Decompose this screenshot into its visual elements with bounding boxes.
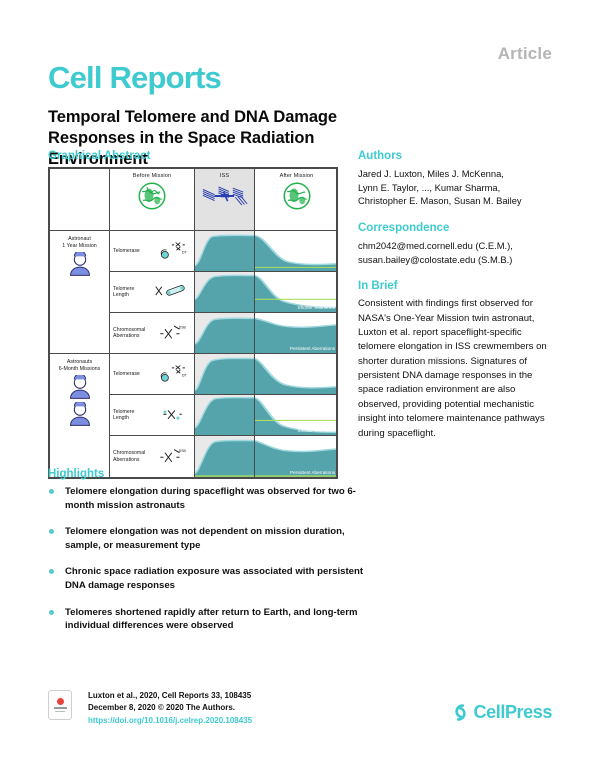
measure-label-text: Chromosomal Aberrations xyxy=(113,450,143,462)
badge-dot xyxy=(57,698,64,705)
annotation-shorter-telomeres: Shorter Telomeres xyxy=(298,305,335,310)
graphical-abstract-heading: Graphical Abstract xyxy=(48,150,338,162)
astronaut-icon xyxy=(67,252,93,276)
author-line: Lynn E. Taylor, ..., Kumar Sharma, xyxy=(358,181,554,195)
authors-block: Authors Jared J. Luxton, Miles J. McKenn… xyxy=(358,150,554,208)
plot-telomerase-6m-iss xyxy=(195,354,255,395)
page-root: Article Cell Reports Temporal Telomere a… xyxy=(0,0,600,779)
publisher-name: CellPress xyxy=(474,702,552,723)
bullet-icon xyxy=(49,529,54,534)
journal-brand-title: Cell Reports xyxy=(48,62,552,93)
citation-block: Luxton et al., 2020, Cell Reports 33, 10… xyxy=(88,690,252,727)
measure-label-text: Chromosomal Aberrations xyxy=(113,327,143,339)
bullet-icon xyxy=(49,489,54,494)
badge-bar xyxy=(54,707,67,709)
astronaut-icon xyxy=(67,375,93,399)
measure-label-text: Telomerase xyxy=(113,248,143,254)
graphical-abstract-section: Graphical Abstract Before Mission ISS xyxy=(48,150,338,479)
highlight-text: Telomeres shortened rapidly after return… xyxy=(65,607,357,632)
figure-corner-cell xyxy=(50,169,110,231)
measure-label-text: Telomere Length xyxy=(113,409,143,421)
badge-bar xyxy=(55,711,65,713)
column-header-label: After Mission xyxy=(280,173,314,179)
doi-link[interactable]: https://doi.org/10.1016/j.celrep.2020.10… xyxy=(88,715,252,727)
annotation-persistent-aberrations: Persistent Aberrations xyxy=(290,346,335,351)
measure-label-cell: Telomerase DT xyxy=(110,231,195,272)
in-brief-text: Consistent with findings first observed … xyxy=(358,297,554,441)
plot-telomere-length-1y-iss xyxy=(195,272,255,313)
highlight-text: Telomere elongation during spaceflight w… xyxy=(65,486,356,511)
highlight-text: Chronic space radiation exposure was ass… xyxy=(65,566,363,591)
list-item: Telomeres shortened rapidly after return… xyxy=(48,606,368,633)
plot-telomere-length-1y-after: Shorter Telomeres xyxy=(255,272,338,313)
row-group-text: Astronauts6-Month Missions xyxy=(59,359,101,372)
chromosome-telomere-icon xyxy=(145,397,191,433)
right-column: Authors Jared J. Luxton, Miles J. McKenn… xyxy=(358,150,554,455)
crossmark-badge-icon xyxy=(48,690,72,720)
authors-list: Jared J. Luxton, Miles J. McKenna, Lynn … xyxy=(358,167,554,208)
measure-label-cell: Telomerase DT xyxy=(110,354,195,395)
correspondence-heading: Correspondence xyxy=(358,222,554,234)
list-item: Telomere elongation during spaceflight w… xyxy=(48,485,368,512)
telomerase-icon: DT xyxy=(145,233,191,269)
correspondence-email[interactable]: susan.bailey@colostate.edu (S.M.B.) xyxy=(358,253,554,267)
bullet-icon xyxy=(49,610,54,615)
in-brief-block: In Brief Consistent with findings first … xyxy=(358,280,554,441)
highlights-section: Highlights Telomere elongation during sp… xyxy=(48,468,368,646)
svg-text:DT: DT xyxy=(182,373,188,377)
column-header-label: Before Mission xyxy=(133,173,171,179)
plot-telomere-length-6m-iss xyxy=(195,395,255,436)
figure-column-header-after: After Mission xyxy=(255,169,338,231)
earth-icon xyxy=(282,181,312,211)
in-brief-heading: In Brief xyxy=(358,280,554,292)
author-line: Christopher E. Mason, Susan M. Bailey xyxy=(358,194,554,208)
highlights-list: Telomere elongation during spaceflight w… xyxy=(48,485,368,633)
svg-text:DSB: DSB xyxy=(179,325,187,329)
chromosome-aberration-icon: DSB xyxy=(145,315,191,351)
graphical-abstract-figure: Before Mission ISS xyxy=(48,167,338,479)
annotation-shorter-telomeres: Shorter Telomeres xyxy=(298,428,335,433)
bullet-icon xyxy=(49,569,54,574)
plot-telomerase-1y-iss xyxy=(195,231,255,272)
measure-label-cell: Chromosomal Aberrations DSB xyxy=(110,313,195,354)
measure-label-cell: Telomere Length xyxy=(110,272,195,313)
figure-column-header-before: Before Mission xyxy=(110,169,195,231)
correspondence-block: Correspondence chm2042@med.cornell.edu (… xyxy=(358,222,554,266)
plot-aberrations-1y-iss xyxy=(195,313,255,354)
authors-heading: Authors xyxy=(358,150,554,162)
list-item: Telomere elongation was not dependent on… xyxy=(48,525,368,552)
telomerase-icon: DT xyxy=(145,356,191,392)
citation-line: December 8, 2020 © 2020 The Authors. xyxy=(88,702,252,714)
plot-telomerase-1y-after xyxy=(255,231,338,272)
highlight-text: Telomere elongation was not dependent on… xyxy=(65,526,345,551)
measure-label-text: Telomere Length xyxy=(113,286,143,298)
svg-text:DT: DT xyxy=(182,250,188,254)
publisher-logo: CellPress xyxy=(452,702,552,723)
plot-telomere-length-6m-after: Shorter Telomeres xyxy=(255,395,338,436)
space-station-icon xyxy=(199,181,251,211)
measure-label-text: Telomerase xyxy=(113,371,143,377)
article-type-label: Article xyxy=(498,44,552,64)
column-header-label: ISS xyxy=(220,173,229,179)
correspondence-email[interactable]: chm2042@med.cornell.edu (C.E.M.), xyxy=(358,239,554,253)
svg-text:DSB: DSB xyxy=(179,449,187,453)
plot-telomerase-6m-after xyxy=(255,354,338,395)
citation-line: Luxton et al., 2020, Cell Reports 33, 10… xyxy=(88,690,252,702)
author-line: Jared J. Luxton, Miles J. McKenna, xyxy=(358,167,554,181)
row-group-text: Astronaut1 Year Mission xyxy=(62,236,96,249)
list-item: Chronic space radiation exposure was ass… xyxy=(48,565,368,592)
measure-label-cell: Telomere Length xyxy=(110,395,195,436)
highlights-heading: Highlights xyxy=(48,468,368,480)
cellpress-mark-icon xyxy=(452,703,469,722)
figure-column-header-iss: ISS xyxy=(195,169,255,231)
astronaut-icon xyxy=(67,402,93,426)
correspondence-list: chm2042@med.cornell.edu (C.E.M.), susan.… xyxy=(358,239,554,266)
chromosome-telomere-icon xyxy=(145,274,191,310)
earth-icon xyxy=(137,181,167,211)
page-footer: Luxton et al., 2020, Cell Reports 33, 10… xyxy=(48,690,552,727)
plot-aberrations-1y-after: Persistent Aberrations xyxy=(255,313,338,354)
row-group-label-six-month: Astronauts6-Month Missions xyxy=(50,354,110,477)
row-group-label-one-year: Astronaut1 Year Mission xyxy=(50,231,110,354)
